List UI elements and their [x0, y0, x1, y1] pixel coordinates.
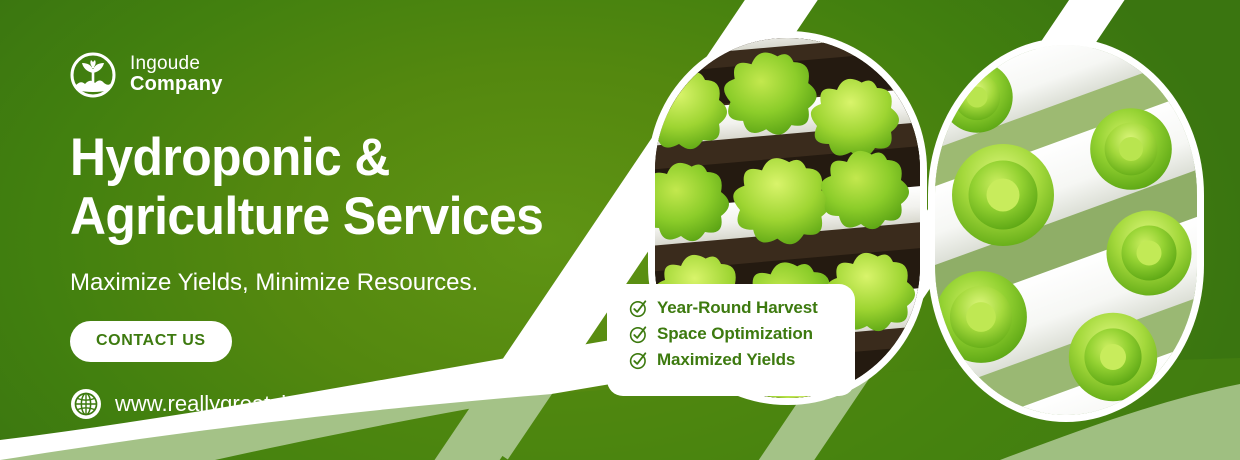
plant-sprout-circle-icon: [70, 52, 116, 98]
website-link[interactable]: www.reallygreatsite.com: [70, 388, 650, 420]
brand-name-line2: Company: [130, 73, 223, 95]
list-item: Maximized Yields: [629, 350, 855, 370]
promo-banner: Ingoude Company Hydroponic & Agriculture…: [0, 0, 1240, 460]
feature-label: Maximized Yields: [657, 350, 795, 370]
headline-line-1: Hydroponic &: [70, 128, 390, 187]
feature-label: Year-Round Harvest: [657, 298, 818, 318]
butterhead-lettuce-channels-photo: [935, 45, 1197, 415]
page-title: Hydroponic & Agriculture Services: [70, 128, 615, 247]
subheadline: Maximize Yields, Minimize Resources.: [70, 269, 650, 297]
headline-line-2: Agriculture Services: [70, 187, 615, 246]
check-circle-icon: [629, 325, 648, 344]
list-item: Space Optimization: [629, 324, 855, 344]
list-item: Year-Round Harvest: [629, 298, 855, 318]
brand-name-line1: Ingoude: [130, 53, 200, 74]
brand-lockup: Ingoude Company: [70, 52, 650, 98]
banner-content: Ingoude Company Hydroponic & Agriculture…: [70, 52, 650, 420]
feature-label: Space Optimization: [657, 324, 813, 344]
check-circle-icon: [629, 351, 648, 370]
feature-highlights-card: Year-Round Harvest Space Optimization Ma…: [607, 284, 855, 396]
website-url-text: www.reallygreatsite.com: [115, 391, 352, 417]
contact-us-button[interactable]: CONTACT US: [70, 321, 232, 362]
globe-icon: [70, 388, 102, 420]
check-circle-icon: [629, 299, 648, 318]
brand-name: Ingoude Company: [130, 54, 223, 96]
